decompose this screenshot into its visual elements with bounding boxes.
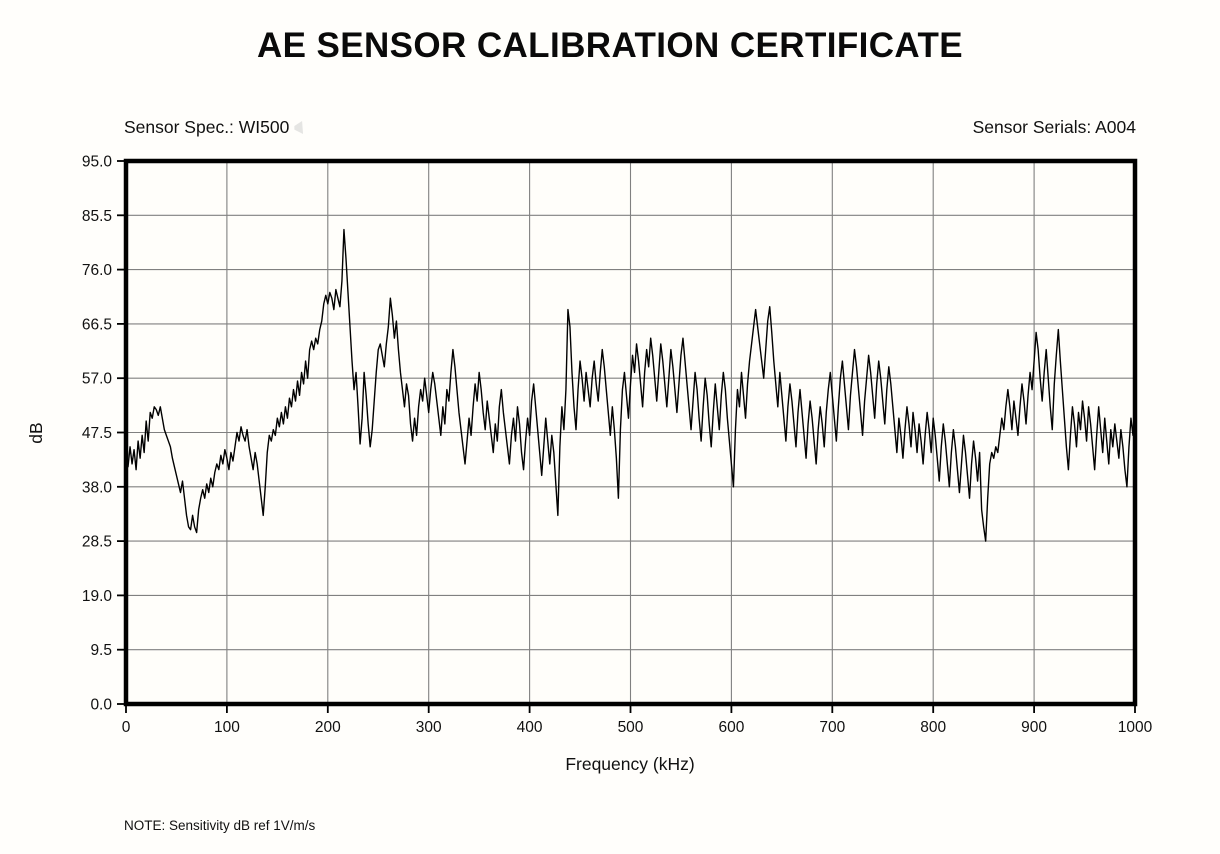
x-tick-label: 100 <box>214 719 240 736</box>
y-tick-label: 9.5 <box>90 642 112 659</box>
x-tick-label: 500 <box>618 719 644 736</box>
y-tick-label: 19.0 <box>82 588 113 605</box>
x-tick-label: 0 <box>122 719 131 736</box>
x-tick-label: 600 <box>718 719 744 736</box>
y-tick-label: 85.5 <box>82 208 112 225</box>
y-tick-label: 28.5 <box>82 534 112 551</box>
chart-svg: 0.09.519.028.538.047.557.066.576.085.595… <box>0 0 1220 854</box>
y-axis-title: dB <box>26 422 46 443</box>
x-tick-label: 300 <box>416 719 442 736</box>
x-tick-label: 800 <box>920 719 946 736</box>
x-tick-label: 400 <box>517 719 543 736</box>
y-tick-label: 95.0 <box>82 154 113 171</box>
frequency-response-chart: 0.09.519.028.538.047.557.066.576.085.595… <box>0 0 1220 854</box>
y-tick-label: 47.5 <box>82 425 112 442</box>
y-tick-label: 38.0 <box>82 479 113 496</box>
y-tick-label: 57.0 <box>82 371 113 388</box>
x-axis-ticks: 01002003004005006007008009001000 <box>122 704 1153 736</box>
note-text: NOTE: Sensitivity dB ref 1V/m/s <box>124 818 315 833</box>
x-tick-label: 1000 <box>1118 719 1153 736</box>
x-tick-label: 900 <box>1021 719 1047 736</box>
y-axis-ticks: 0.09.519.028.538.047.557.066.576.085.595… <box>82 154 126 714</box>
calibration-certificate: AE SENSOR CALIBRATION CERTIFICATE Sensor… <box>0 0 1220 854</box>
x-axis-title: Frequency (kHz) <box>565 754 694 774</box>
y-tick-label: 76.0 <box>82 262 113 279</box>
x-tick-label: 200 <box>315 719 341 736</box>
y-tick-label: 0.0 <box>90 697 112 714</box>
y-tick-label: 66.5 <box>82 316 112 333</box>
x-tick-label: 700 <box>819 719 845 736</box>
